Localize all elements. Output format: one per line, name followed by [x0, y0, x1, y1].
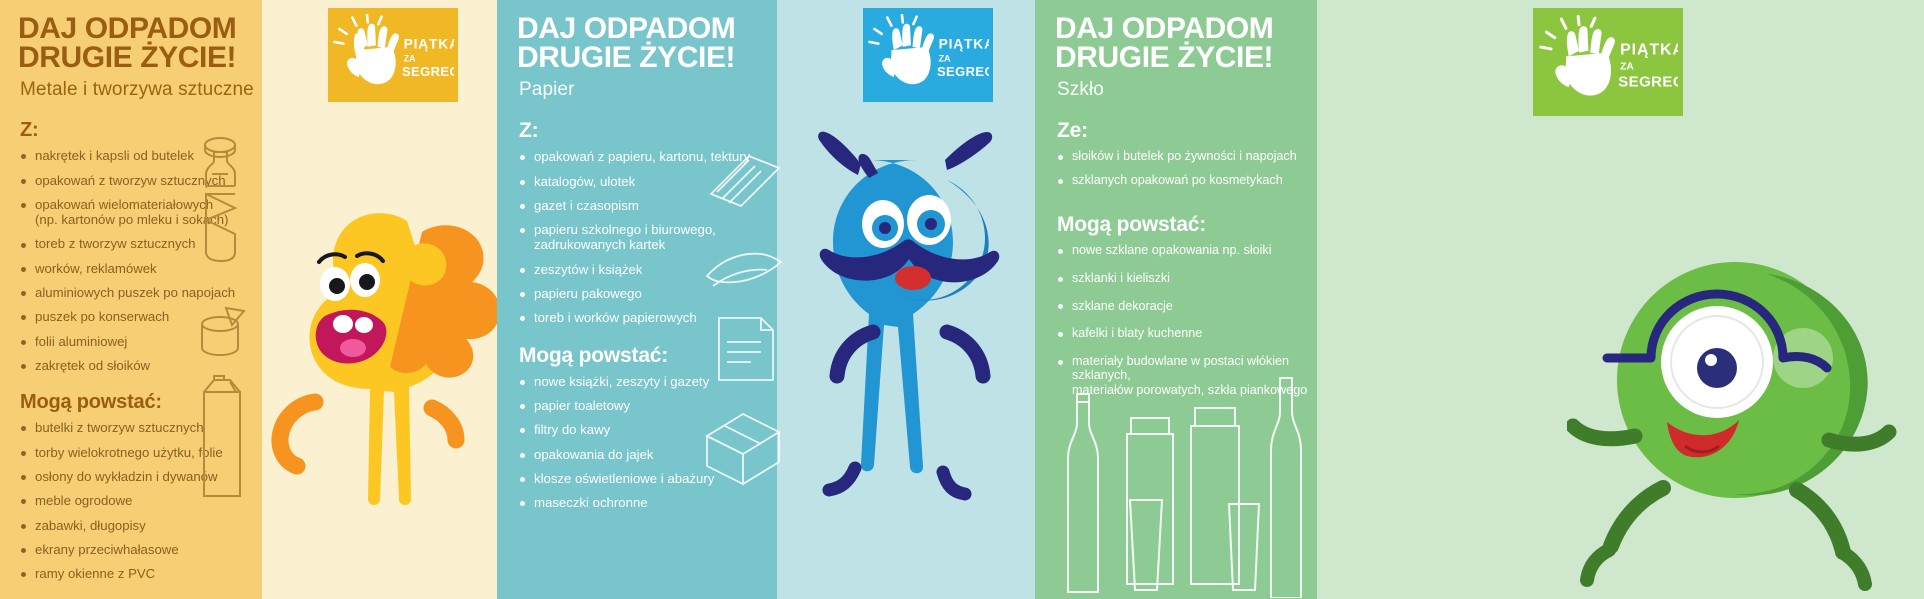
list-item: maseczki ochronne	[519, 495, 777, 510]
panel-3-produce-heading: Mogą powstać:	[1057, 213, 1317, 237]
panel-papier: DAJ ODPADOM DRUGIE ŻYCIE! Papier Z: opak…	[497, 0, 1035, 599]
list-item: szklanki i kieliszki	[1057, 271, 1317, 286]
list-item-text: torby wielokrotnego użytku, folie	[35, 445, 262, 460]
list-item: osłony do wykładzin i dywanów	[20, 469, 262, 484]
panel-2-subtitle: Papier	[519, 79, 777, 101]
list-item-text: nowe szklane opakowania np. słoiki	[1072, 243, 1317, 258]
list-item: papieru szkolnego i biurowego, zadrukowa…	[519, 222, 777, 253]
wine-bottle-icon	[1263, 372, 1309, 598]
list-item-text: słoików i butelek po żywności i napojach	[1072, 149, 1317, 164]
list-item: toreb z tworzyw sztucznych	[20, 236, 262, 251]
list-item: opakowań z papieru, kartonu, tektury	[519, 149, 777, 164]
list-item-text: toreb i worków papierowych	[534, 310, 777, 325]
list-item: papier toaletowy	[519, 398, 777, 413]
svg-text:ZA: ZA	[404, 54, 416, 64]
list-item: nakrętek i kapsli od butelek	[20, 148, 262, 163]
list-item: butelki z tworzyw sztucznych	[20, 420, 262, 435]
list-item-text: opakowań z papieru, kartonu, tektury	[534, 149, 777, 164]
list-item: kafelki i blaty kuchenne	[1057, 326, 1317, 341]
yellow-plastic-mascot	[262, 196, 497, 599]
list-item-text-cont: materiałów porowatych, szkła piankowego	[1072, 383, 1317, 398]
list-item-text-cont: zadrukowanych kartek	[534, 237, 777, 252]
list-item: filtry do kawy	[519, 422, 777, 437]
list-item: ekrany przeciwhałasowe	[20, 542, 262, 557]
list-item-text-cont: (np. kartonów po mleku i sokach)	[35, 212, 262, 227]
svg-text:PIĄTKA: PIĄTKA	[404, 35, 454, 51]
list-item: zeszytów i książek	[519, 262, 777, 277]
list-item: folii aluminiowej	[20, 334, 262, 349]
list-item: zabawki, długopisy	[20, 518, 262, 533]
list-item: torby wielokrotnego użytku, folie	[20, 445, 262, 460]
list-item-text: filtry do kawy	[534, 422, 777, 437]
list-item: opakowań wielomateriałowych (np. kartonó…	[20, 197, 262, 228]
list-item-text: osłony do wykładzin i dywanów	[35, 469, 262, 484]
panel-2-produce-list: nowe książki, zeszyty i gazety papier to…	[517, 374, 777, 511]
panel-3-accept-list: słoików i butelek po żywności i napojach…	[1055, 149, 1317, 187]
panel-3-subtitle: Szkło	[1057, 79, 1317, 101]
list-item: zakrętek od słoików	[20, 358, 262, 373]
list-item-text: kafelki i blaty kuchenne	[1072, 326, 1317, 341]
list-item: papieru pakowego	[519, 286, 777, 301]
list-item: opakowania do jajek	[519, 447, 777, 462]
list-item-text: zabawki, długopisy	[35, 518, 262, 533]
list-item: puszek po konserwach	[20, 309, 262, 324]
list-item-text: opakowania do jajek	[534, 447, 777, 462]
list-item-text: toreb z tworzyw sztucznych	[35, 236, 262, 251]
list-item: gazet i czasopism	[519, 198, 777, 213]
panel-2-produce-heading: Mogą powstać:	[519, 344, 777, 368]
drinking-glass-icon	[1121, 492, 1171, 598]
list-item-text: klosze oświetleniowe i abażury	[534, 471, 777, 486]
list-item: meble ogrodowe	[20, 493, 262, 508]
panel-1-headline: DAJ ODPADOM DRUGIE ŻYCIE!	[18, 14, 262, 72]
list-item-text: folii aluminiowej	[35, 334, 262, 349]
list-item: worków, reklamówek	[20, 261, 262, 276]
svg-text:SEGREGACJĘ: SEGREGACJĘ	[937, 64, 989, 79]
svg-text:SEGREGACJĘ: SEGREGACJĘ	[1618, 73, 1678, 90]
list-item: szklanych opakowań po kosmetykach	[1057, 173, 1317, 188]
list-item-text: aluminiowych puszek po napojach	[35, 285, 262, 300]
panel-1-produce-heading: Mogą powstać:	[20, 391, 262, 414]
open-hand-icon: PIĄTKA ZA SEGREGACJĘ	[867, 14, 989, 96]
svg-text:PIĄTKA: PIĄTKA	[1620, 42, 1678, 59]
list-item-text: worków, reklamówek	[35, 261, 262, 276]
logo-badge-blue: PIĄTKA ZA SEGREGACJĘ	[863, 8, 993, 102]
panel-2-accept-list: opakowań z papieru, kartonu, tektury kat…	[517, 149, 777, 326]
panel-1-headline-line1: DAJ ODPADOM	[18, 14, 262, 43]
panel-1-produce-list: butelki z tworzyw sztucznych torby wielo…	[18, 420, 262, 581]
list-item: opakowań z tworzyw sztucznych	[20, 173, 262, 188]
list-item-text: papier toaletowy	[534, 398, 777, 413]
green-glass-mascot	[1567, 250, 1907, 599]
list-item: katalogów, ulotek	[519, 174, 777, 189]
blue-paper-mascot	[797, 120, 1035, 599]
svg-text:ZA: ZA	[1620, 61, 1634, 72]
list-item-text: puszek po konserwach	[35, 309, 262, 324]
panel-3-accept-heading: Ze:	[1057, 119, 1317, 143]
list-item-text: opakowań wielomateriałowych	[35, 197, 262, 212]
list-item-text: zeszytów i książek	[534, 262, 777, 277]
panel-2-headline-line1: DAJ ODPADOM	[517, 14, 777, 43]
list-item-text: opakowań z tworzyw sztucznych	[35, 173, 262, 188]
list-item: toreb i worków papierowych	[519, 310, 777, 325]
panel-3-produce-list: nowe szklane opakowania np. słoiki szkla…	[1055, 243, 1317, 397]
list-item-text: materiały budowlane w postaci włókien sz…	[1072, 354, 1317, 383]
logo-badge-yellow: PIĄTKA ZA SEGREGACJĘ	[328, 8, 458, 102]
list-item-text: katalogów, ulotek	[534, 174, 777, 189]
list-item: materiały budowlane w postaci włókien sz…	[1057, 354, 1317, 398]
panel-3-text-column: DAJ ODPADOM DRUGIE ŻYCIE! Szkło Ze: słoi…	[1035, 0, 1317, 599]
open-hand-icon: PIĄTKA ZA SEGREGACJĘ	[1538, 15, 1678, 109]
list-item: słoików i butelek po żywności i napojach	[1057, 149, 1317, 164]
panel-3-headline: DAJ ODPADOM DRUGIE ŻYCIE!	[1055, 14, 1317, 72]
list-item-text: papieru szkolnego i biurowego,	[534, 222, 777, 237]
panel-1-text-column: DAJ ODPADOM DRUGIE ŻYCIE! Metale i tworz…	[0, 0, 262, 599]
list-item-text: szklanych opakowań po kosmetykach	[1072, 173, 1317, 188]
list-item-text: szklane dekoracje	[1072, 299, 1317, 314]
logo-badge-green: PIĄTKA ZA SEGREGACJĘ	[1533, 8, 1683, 116]
panel-2-accept-heading: Z:	[519, 119, 777, 143]
panel-2-text-column: DAJ ODPADOM DRUGIE ŻYCIE! Papier Z: opak…	[497, 0, 777, 599]
glass-jar-icon	[1119, 408, 1181, 598]
list-item-text: gazet i czasopism	[534, 198, 777, 213]
panel-1-accept-heading: Z:	[20, 119, 262, 142]
list-item: ramy okienne z PVC	[20, 566, 262, 581]
svg-text:PIĄTKA: PIĄTKA	[939, 35, 989, 51]
list-item-text: szklanki i kieliszki	[1072, 271, 1317, 286]
panel-metale-tworzywa: DAJ ODPADOM DRUGIE ŻYCIE! Metale i tworz…	[0, 0, 497, 599]
panel-szklo: DAJ ODPADOM DRUGIE ŻYCIE! Szkło Ze: słoi…	[1035, 0, 1924, 599]
panel-2-headline: DAJ ODPADOM DRUGIE ŻYCIE!	[517, 14, 777, 72]
svg-text:ZA: ZA	[939, 54, 951, 64]
list-item-text: meble ogrodowe	[35, 493, 262, 508]
panel-3-art-column: PIĄTKA ZA SEGREGACJĘ	[1317, 0, 1924, 599]
panel-1-art-column: PIĄTKA ZA SEGREGACJĘ	[262, 0, 497, 599]
drinking-glass-icon	[1221, 496, 1267, 598]
panel-1-accept-list: nakrętek i kapsli od butelek opakowań z …	[18, 148, 262, 373]
open-hand-icon: PIĄTKA ZA SEGREGACJĘ	[332, 14, 454, 96]
list-item-text: ramy okienne z PVC	[35, 566, 262, 581]
panel-1-subtitle: Metale i tworzywa sztuczne	[20, 79, 262, 101]
list-item-text: ekrany przeciwhałasowe	[35, 542, 262, 557]
list-item-text: butelki z tworzyw sztucznych	[35, 420, 262, 435]
list-item-text: nakrętek i kapsli od butelek	[35, 148, 262, 163]
panel-3-headline-line1: DAJ ODPADOM	[1055, 14, 1317, 43]
list-item: aluminiowych puszek po napojach	[20, 285, 262, 300]
list-item: klosze oświetleniowe i abażury	[519, 471, 777, 486]
glass-bottle-icon	[1061, 388, 1105, 598]
list-item-text: nowe książki, zeszyty i gazety	[534, 374, 777, 389]
list-item-text: zakrętek od słoików	[35, 358, 262, 373]
panel-3-headline-line2: DRUGIE ŻYCIE!	[1055, 43, 1317, 72]
list-item: nowe książki, zeszyty i gazety	[519, 374, 777, 389]
svg-text:SEGREGACJĘ: SEGREGACJĘ	[402, 64, 454, 79]
glass-jar-icon	[1185, 400, 1245, 598]
list-item-text: papieru pakowego	[534, 286, 777, 301]
panel-2-art-column: PIĄTKA ZA SEGREGACJĘ	[777, 0, 1035, 599]
list-item: nowe szklane opakowania np. słoiki	[1057, 243, 1317, 258]
panel-1-headline-line2: DRUGIE ŻYCIE!	[18, 43, 262, 72]
list-item: szklane dekoracje	[1057, 299, 1317, 314]
panel-2-headline-line2: DRUGIE ŻYCIE!	[517, 43, 777, 72]
recycling-poster-board: DAJ ODPADOM DRUGIE ŻYCIE! Metale i tworz…	[0, 0, 1924, 599]
list-item-text: maseczki ochronne	[534, 495, 777, 510]
